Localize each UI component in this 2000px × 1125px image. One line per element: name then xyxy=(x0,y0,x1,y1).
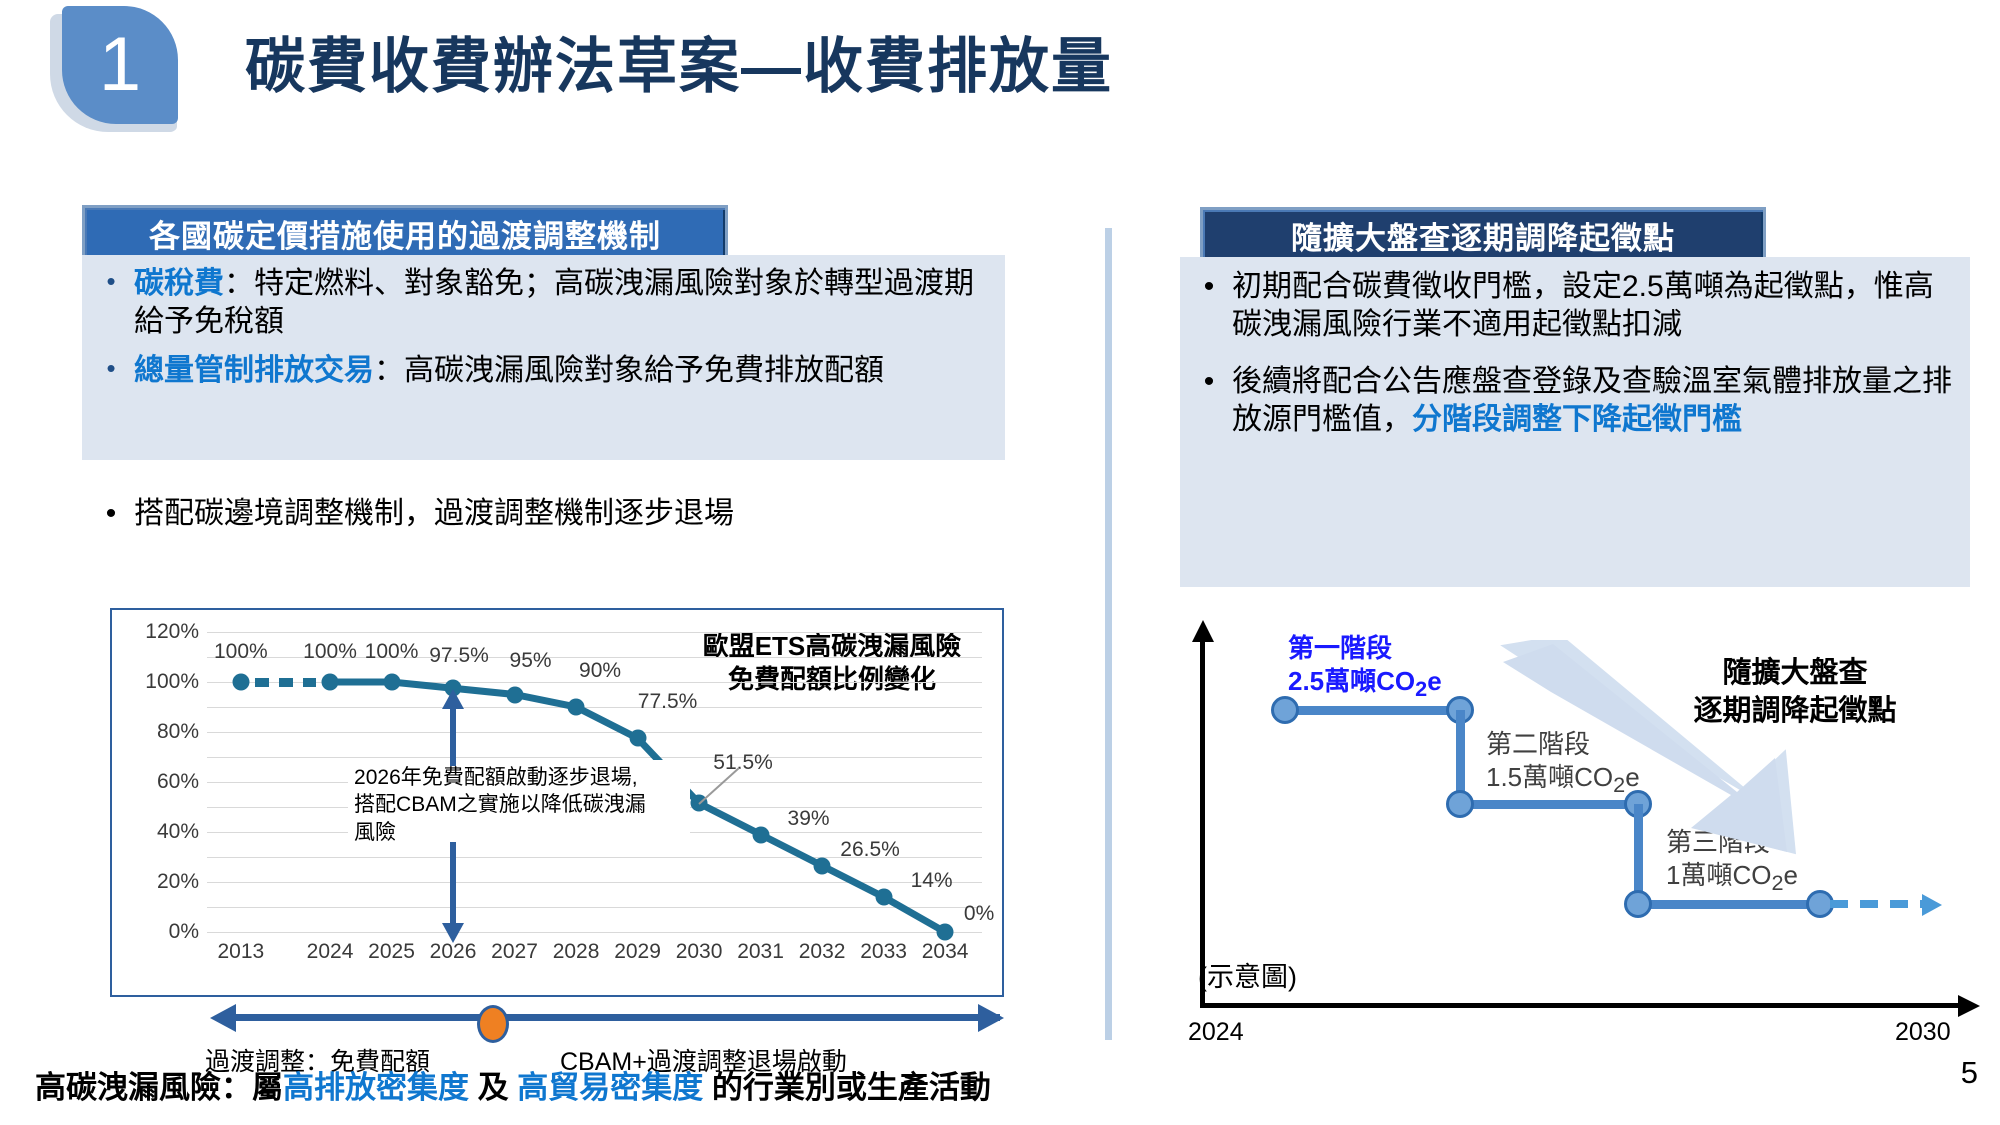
page-title: 碳費收費辦法草案—收費排放量 xyxy=(245,18,1113,105)
left-panel-header-label: 各國碳定價措施使用的過渡調整機制 xyxy=(149,211,661,256)
list-item: • 碳稅費：特定燃料、對象豁免；高碳洩漏風險對象於轉型過渡期給予免稅額 xyxy=(88,265,998,342)
chart-x-axis: 2013202420252026202720282029203020312032… xyxy=(207,940,982,974)
chart-annotation: 2026年免費配額啟動逐步退場,搭配CBAM之實施以降低碳洩漏風險 xyxy=(348,760,690,850)
transition-timeline: 過渡調整：免費配額 CBAM+過渡調整退場啟動 xyxy=(110,1000,1000,1060)
list-item: • 搭配碳邊境調整機制，過渡調整機制逐步退場 xyxy=(88,495,998,533)
column-divider xyxy=(1105,228,1112,1040)
chart-data-label: 97.5% xyxy=(429,644,489,668)
chart-x-tick: 2032 xyxy=(799,940,846,964)
step-y-axis xyxy=(1200,638,1205,1008)
chart-data-point xyxy=(506,686,523,703)
footer-note: 高碳洩漏風險：屬高排放密集度 及 高貿易密集度 的行業別或生產活動 xyxy=(35,1062,991,1107)
chart-dashed-connector xyxy=(255,678,316,687)
chart-data-point xyxy=(568,699,585,716)
chart-data-label: 0% xyxy=(964,902,994,926)
chart-data-label: 26.5% xyxy=(840,838,900,862)
list-item-text: 後續將配合公告應盤查登錄及查驗溫室氣體排放量之排放源門檻值，分階段調整下降起徵門… xyxy=(1232,363,1976,440)
list-item-rest: ：高碳洩漏風險對象給予免費排放配額 xyxy=(374,354,884,387)
chart-data-label: 95% xyxy=(510,649,552,673)
footer-highlight-1: 高排放密集度 xyxy=(283,1070,469,1105)
footer-prefix: 高碳洩漏風險：屬 xyxy=(35,1070,283,1105)
chart-annotation-line: 2026年免費配額啟動逐步退場, xyxy=(354,764,684,791)
list-item-lead: 總量管制排放交易 xyxy=(134,354,374,387)
chart-x-tick: 2030 xyxy=(676,940,723,964)
chart-data-point xyxy=(322,674,339,691)
arrow-note: 隨擴大盤查 逐期調降起徵點 xyxy=(1630,655,1960,730)
badge-number-text: 1 xyxy=(62,6,178,124)
step-label-1: 第一階段 2.5萬噸CO2e xyxy=(1288,632,1442,702)
chart-y-tick: 100% xyxy=(145,670,199,694)
step-dashed-arrow-icon xyxy=(1922,894,1942,916)
footer-highlight-2: 高貿易密集度 xyxy=(517,1070,703,1105)
chart-data-point xyxy=(814,857,831,874)
chart-annotation-line: 搭配CBAM之實施以降低碳洩漏 xyxy=(354,791,684,818)
chart-x-tick: 2028 xyxy=(553,940,600,964)
bullet-dot-icon: • xyxy=(88,352,134,385)
chart-y-tick: 60% xyxy=(157,770,199,794)
footer-mid: 及 xyxy=(469,1070,517,1105)
right-bullet-list: • 初期配合碳費徵收門檻，設定2.5萬噸為起徵點，惟高碳洩漏風險行業不適用起徵點… xyxy=(1186,268,1976,458)
list-item: • 總量管制排放交易：高碳洩漏風險對象給予免費排放配額 xyxy=(88,352,998,390)
right-panel-header: 隨擴大盤查逐期調降起徵點 xyxy=(1200,207,1766,263)
arrow-note-line1: 隨擴大盤查 xyxy=(1630,655,1960,693)
chart-annotation-line: 風險 xyxy=(354,819,684,846)
chart-y-tick: 20% xyxy=(157,870,199,894)
page-number: 5 xyxy=(1961,1055,1978,1091)
list-item-text: 初期配合碳費徵收門檻，設定2.5萬噸為起徵點，惟高碳洩漏風險行業不適用起徵點扣減 xyxy=(1232,268,1976,345)
chart-gridline xyxy=(207,932,982,933)
chart-annotation-arrow xyxy=(450,842,456,924)
step-x-axis xyxy=(1200,1003,1960,1008)
step-axis-start-year: 2024 xyxy=(1188,1018,1244,1047)
step-segment-1 xyxy=(1282,706,1462,715)
chart-data-point xyxy=(752,826,769,843)
step-axis-end-year: 2030 xyxy=(1895,1018,1951,1047)
chart-data-label: 77.5% xyxy=(638,690,698,714)
chart-x-tick: 2025 xyxy=(368,940,415,964)
arrow-note-line2: 逐期調降起徵點 xyxy=(1630,693,1960,731)
chart-x-tick: 2031 xyxy=(737,940,784,964)
timeline-dashed-segment xyxy=(245,1014,485,1021)
right-panel-header-label: 隨擴大盤查逐期調降起徵點 xyxy=(1291,213,1675,258)
bullet-dot-icon: • xyxy=(1186,268,1232,306)
slide-number-badge: 1 xyxy=(40,6,190,134)
step-segment-3 xyxy=(1634,900,1824,909)
left-bullet-third: • 搭配碳邊境調整機制，過渡調整機制逐步退場 xyxy=(88,495,998,533)
list-item-rest: ：特定燃料、對象豁免；高碳洩漏風險對象於轉型過渡期給予免稅額 xyxy=(134,267,974,338)
chart-x-tick: 2026 xyxy=(430,940,477,964)
timeline-arrow-right-icon xyxy=(978,1004,1004,1032)
eu-ets-free-allocation-chart: 歐盟ETS高碳洩漏風險 免費配額比例變化 0%20%40%60%80%100%1… xyxy=(110,608,1004,997)
chart-data-label: 51.5% xyxy=(713,751,773,775)
chart-x-tick: 2024 xyxy=(307,940,354,964)
chart-x-tick: 2013 xyxy=(217,940,264,964)
chart-x-tick: 2033 xyxy=(860,940,907,964)
list-item-lead: 碳稅費 xyxy=(134,267,224,300)
chart-data-label: 39% xyxy=(788,807,830,831)
chart-data-point xyxy=(383,674,400,691)
chart-plot-area: 0%20%40%60%80%100%120%100%100%100%97.5%9… xyxy=(207,632,982,932)
schematic-note: (示意圖) xyxy=(1198,955,1297,994)
chart-annotation-arrow-head-icon xyxy=(442,689,464,709)
chart-y-tick: 0% xyxy=(169,920,199,944)
chart-data-label: 90% xyxy=(579,659,621,683)
list-item: • 後續將配合公告應盤查登錄及查驗溫室氣體排放量之排放源門檻值，分階段調整下降起… xyxy=(1186,363,1976,440)
list-item-highlight: 分階段調整下降起徵門檻 xyxy=(1412,403,1742,436)
list-item-text: 碳稅費：特定燃料、對象豁免；高碳洩漏風險對象於轉型過渡期給予免稅額 xyxy=(134,265,998,342)
left-panel-header: 各國碳定價措施使用的過渡調整機制 xyxy=(82,205,728,261)
step-node-3a xyxy=(1624,890,1652,918)
step-x-axis-arrow-icon xyxy=(1958,995,1980,1017)
step-y-axis-arrow-icon xyxy=(1192,620,1214,642)
chart-data-point xyxy=(629,730,646,747)
chart-data-label: 100% xyxy=(303,640,357,664)
bullet-dot-icon: • xyxy=(1186,363,1232,401)
chart-data-label: 100% xyxy=(214,640,268,664)
chart-data-label: 100% xyxy=(365,640,419,664)
chart-x-tick: 2029 xyxy=(614,940,661,964)
footer-suffix: 的行業別或生產活動 xyxy=(703,1070,991,1105)
chart-data-point xyxy=(875,889,892,906)
bullet-dot-icon: • xyxy=(88,265,134,298)
chart-annotation-arrow xyxy=(450,708,456,766)
chart-y-tick: 120% xyxy=(145,620,199,644)
bullet-dot-icon: • xyxy=(88,495,134,533)
list-item-text: 總量管制排放交易：高碳洩漏風險對象給予免費排放配額 xyxy=(134,352,884,390)
chart-data-point xyxy=(937,924,954,941)
chart-data-point xyxy=(232,674,249,691)
step-value-1: 2.5萬噸CO2e xyxy=(1288,665,1442,702)
chart-data-label: 14% xyxy=(911,869,953,893)
left-bullet-list: • 碳稅費：特定燃料、對象豁免；高碳洩漏風險對象於轉型過渡期給予免稅額 • 總量… xyxy=(88,265,998,400)
list-item-text: 搭配碳邊境調整機制，過渡調整機制逐步退場 xyxy=(134,495,734,533)
step-stage-1: 第一階段 xyxy=(1288,632,1442,665)
step-dashed-tail xyxy=(1830,900,1925,908)
chart-y-tick: 40% xyxy=(157,820,199,844)
timeline-arrow-left-icon xyxy=(210,1004,236,1032)
chart-y-tick: 80% xyxy=(157,720,199,744)
list-item: • 初期配合碳費徵收門檻，設定2.5萬噸為起徵點，惟高碳洩漏風險行業不適用起徵點… xyxy=(1186,268,1976,345)
chart-x-tick: 2027 xyxy=(491,940,538,964)
step-node-2a xyxy=(1446,790,1474,818)
chart-x-tick: 2034 xyxy=(922,940,969,964)
timeline-marker xyxy=(477,1005,509,1043)
